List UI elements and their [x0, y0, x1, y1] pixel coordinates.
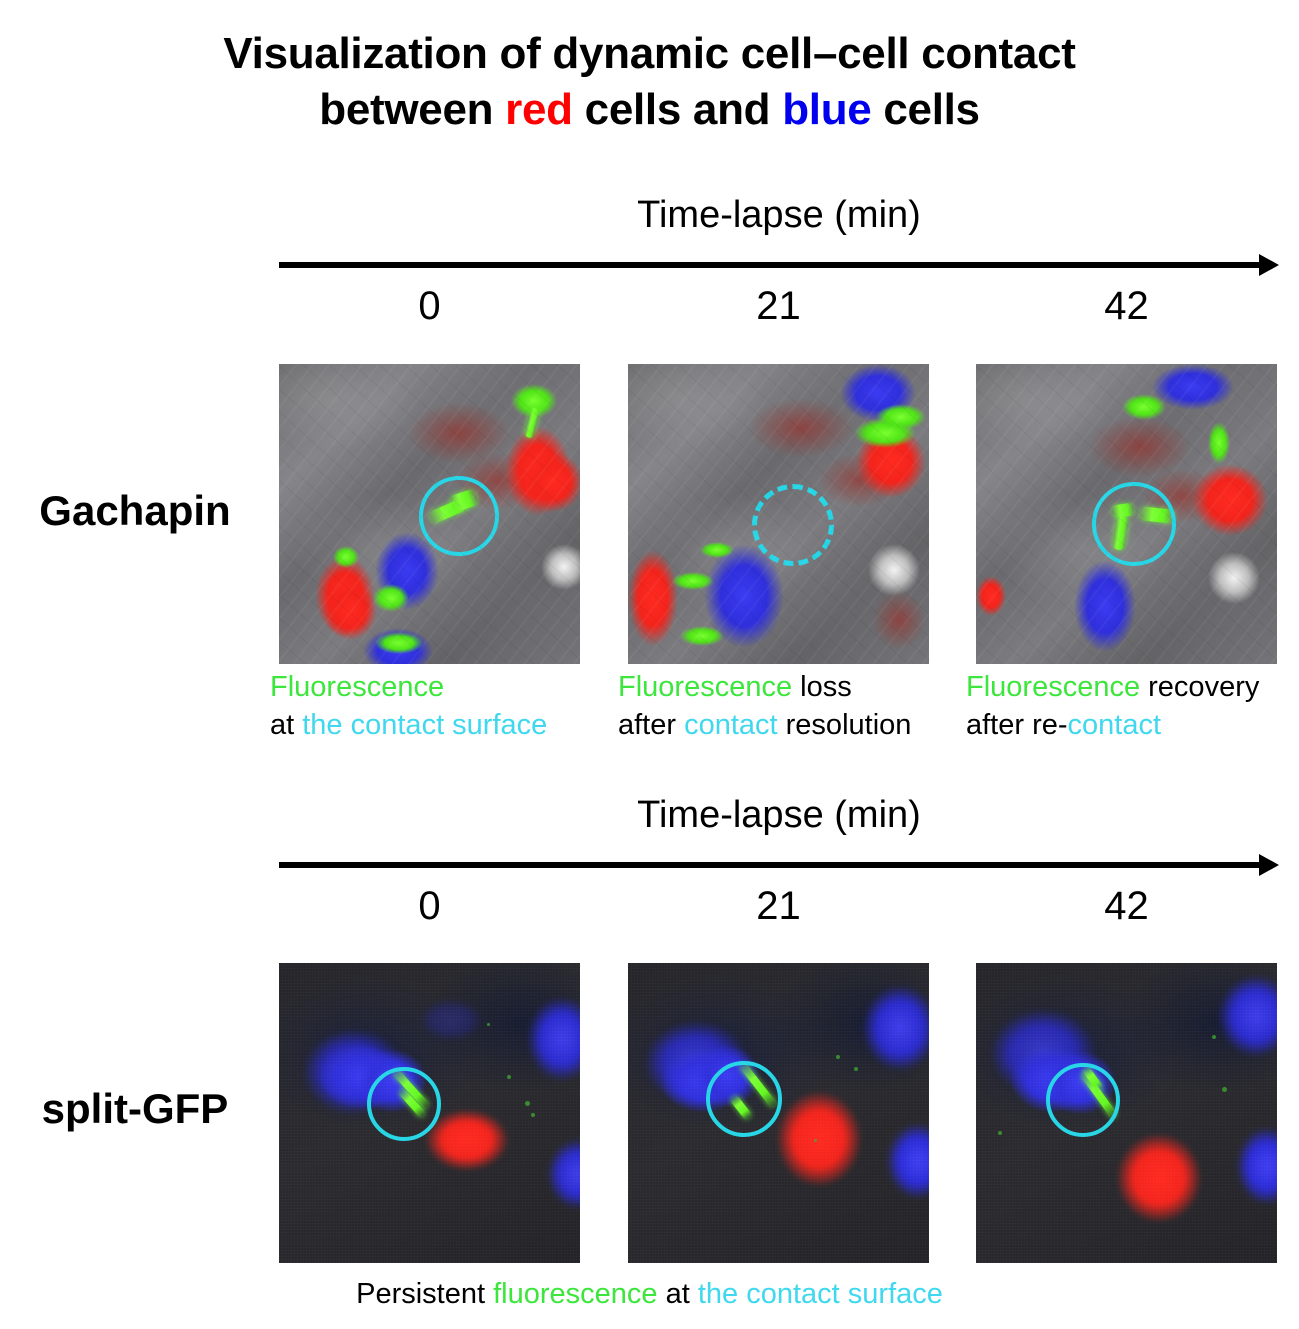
- title-line-2: between red cells and blue cells: [0, 82, 1299, 138]
- caption-seg-fluorescence: fluorescence: [493, 1278, 657, 1310]
- timepoint-label-42: 42: [976, 286, 1277, 326]
- title-word-red: red: [505, 85, 573, 134]
- caption-seg-contact: the contact surface: [302, 709, 547, 741]
- caption-seg-fluorescence: Fluorescence: [618, 671, 792, 703]
- title-line-1: Visualization of dynamic cell–cell conta…: [0, 26, 1299, 82]
- timepoint-label-0: 0: [279, 886, 580, 926]
- caption-seg-persistent: Persistent: [356, 1278, 493, 1310]
- caption-seg-contact: contact: [1068, 709, 1162, 741]
- caption-gachapin-t0: Fluorescence at the contact surface: [270, 668, 590, 745]
- timeline-arrow-splitgfp: [279, 854, 1279, 876]
- timeline-arrow-head-icon: [1259, 254, 1279, 276]
- timepoint-label-21: 21: [628, 886, 929, 926]
- panel-strip-gachapin: [0, 364, 1299, 664]
- caption-seg-at: at: [658, 1278, 698, 1310]
- timeline-arrow-head-icon: [1259, 854, 1279, 876]
- timepoint-label-0: 0: [279, 286, 580, 326]
- timepoint-label-21: 21: [628, 286, 929, 326]
- caption-seg-3: at: [270, 709, 302, 741]
- highlight-circle-solid: [706, 1061, 782, 1137]
- caption-gachapin-t21: Fluorescence loss after contact resoluti…: [618, 668, 938, 745]
- micrograph-gachapin-t0: [279, 364, 580, 664]
- title-line-2-prefix: between: [319, 85, 505, 134]
- timelapse-axis-label-gachapin: Time-lapse (min): [279, 196, 1279, 234]
- figure-title: Visualization of dynamic cell–cell conta…: [0, 26, 1299, 139]
- timepoint-labels-splitgfp: 0 21 42: [279, 886, 1279, 934]
- caption-seg-fluorescence: Fluorescence: [966, 671, 1140, 703]
- caption-seg-3: after: [618, 709, 684, 741]
- highlight-circle-solid: [1046, 1063, 1120, 1137]
- micrograph-gachapin-t42: [976, 364, 1277, 664]
- highlight-circle-solid: [1092, 482, 1176, 566]
- timepoint-labels-gachapin: 0 21 42: [279, 286, 1279, 334]
- title-word-blue: blue: [782, 85, 871, 134]
- micrograph-splitgfp-t42: [976, 963, 1277, 1263]
- micrograph-image: [976, 963, 1277, 1263]
- caption-seg-contact: contact: [684, 709, 778, 741]
- caption-seg-2: recovery: [1140, 671, 1259, 703]
- title-line-2-suffix: cells: [871, 85, 979, 134]
- micrograph-image: [628, 364, 929, 664]
- highlight-circle-dashed: [752, 484, 834, 566]
- caption-seg-fluorescence: Fluorescence: [270, 671, 444, 703]
- timeline-arrow-shaft: [279, 862, 1261, 868]
- highlight-circle-solid: [419, 476, 499, 556]
- title-line-1-text: Visualization of dynamic cell–cell conta…: [223, 29, 1075, 78]
- caption-seg-2: loss: [792, 671, 852, 703]
- timeline-arrow-gachapin: [279, 254, 1279, 276]
- micrograph-image: [628, 963, 929, 1263]
- caption-seg-contact-surface: the contact surface: [698, 1278, 943, 1310]
- timepoint-label-42: 42: [976, 886, 1277, 926]
- caption-seg-5: resolution: [778, 709, 912, 741]
- micrograph-splitgfp-t0: [279, 963, 580, 1263]
- caption-splitgfp: Persistent fluorescence at the contact s…: [0, 1276, 1299, 1314]
- caption-seg-3: after re-: [966, 709, 1068, 741]
- highlight-circle-solid: [367, 1067, 441, 1141]
- panel-strip-splitgfp: [0, 963, 1299, 1263]
- caption-gachapin-t42: Fluorescence recovery after re-contact: [966, 668, 1286, 745]
- micrograph-image: [279, 963, 580, 1263]
- captions-gachapin: Fluorescence at the contact surface Fluo…: [0, 668, 1299, 748]
- title-line-2-middle: cells and: [573, 85, 782, 134]
- timelapse-axis-label-splitgfp: Time-lapse (min): [279, 796, 1279, 834]
- micrograph-image: [279, 364, 580, 664]
- micrograph-gachapin-t21: [628, 364, 929, 664]
- micrograph-splitgfp-t21: [628, 963, 929, 1263]
- micrograph-image: [976, 364, 1277, 664]
- timeline-arrow-shaft: [279, 262, 1261, 268]
